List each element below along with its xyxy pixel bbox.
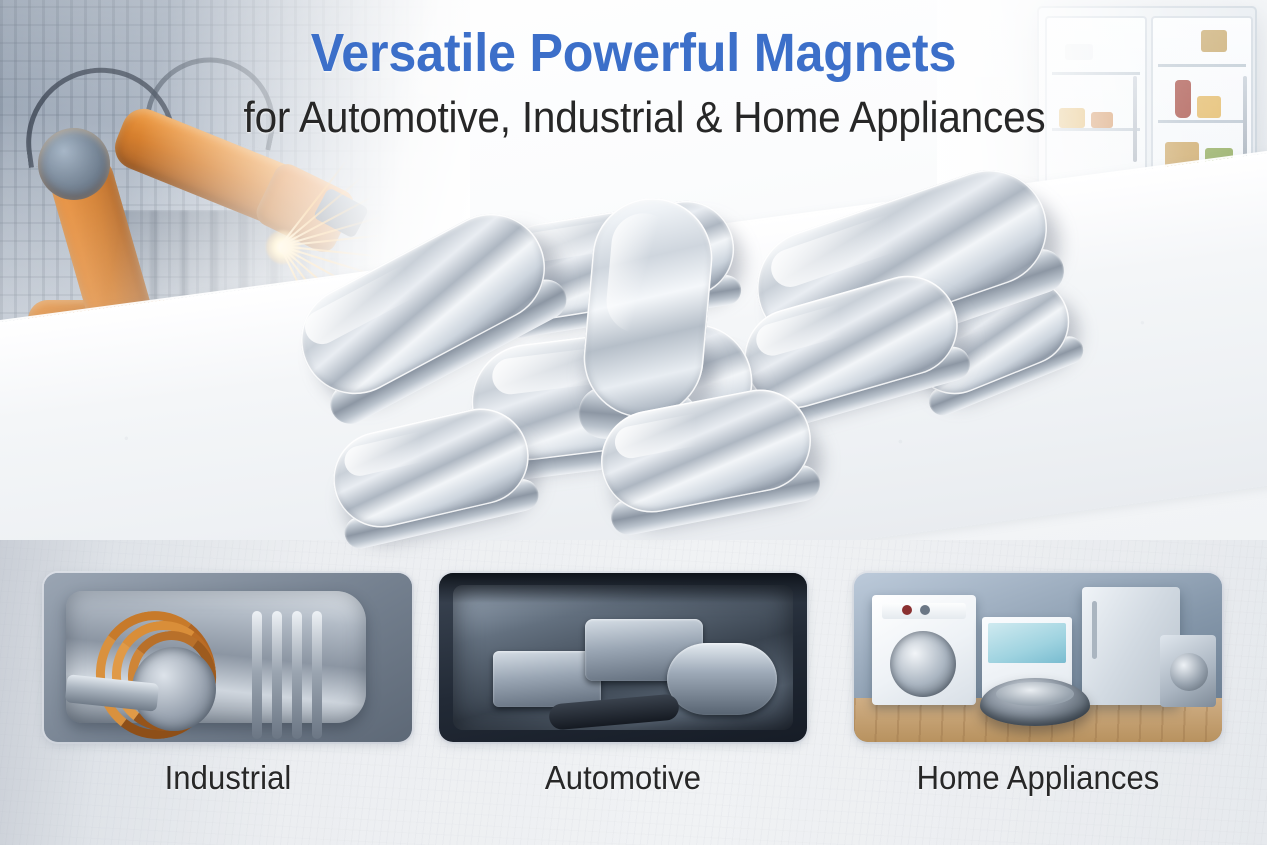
card-home-appliances[interactable] (854, 573, 1222, 742)
card-industrial-image (44, 573, 412, 742)
caption-industrial: Industrial (55, 756, 401, 800)
card-captions: Industrial Automotive Home Appliances (0, 756, 1267, 808)
caption-automotive: Automotive (450, 756, 796, 800)
magnet-upright (579, 193, 718, 423)
poster-canvas: Versatile Powerful Magnets for Automotiv… (0, 0, 1267, 845)
headline-block: Versatile Powerful Magnets for Automotiv… (0, 22, 1267, 146)
card-automotive-image (439, 573, 807, 742)
card-industrial[interactable] (44, 573, 412, 742)
caption-home-appliances: Home Appliances (865, 756, 1211, 800)
card-automotive[interactable] (439, 573, 807, 742)
page-subtitle: for Automotive, Industrial & Home Applia… (72, 90, 1217, 146)
application-cards (0, 573, 1267, 748)
card-home-appliances-image (854, 573, 1222, 742)
page-title: Versatile Powerful Magnets (44, 22, 1222, 84)
